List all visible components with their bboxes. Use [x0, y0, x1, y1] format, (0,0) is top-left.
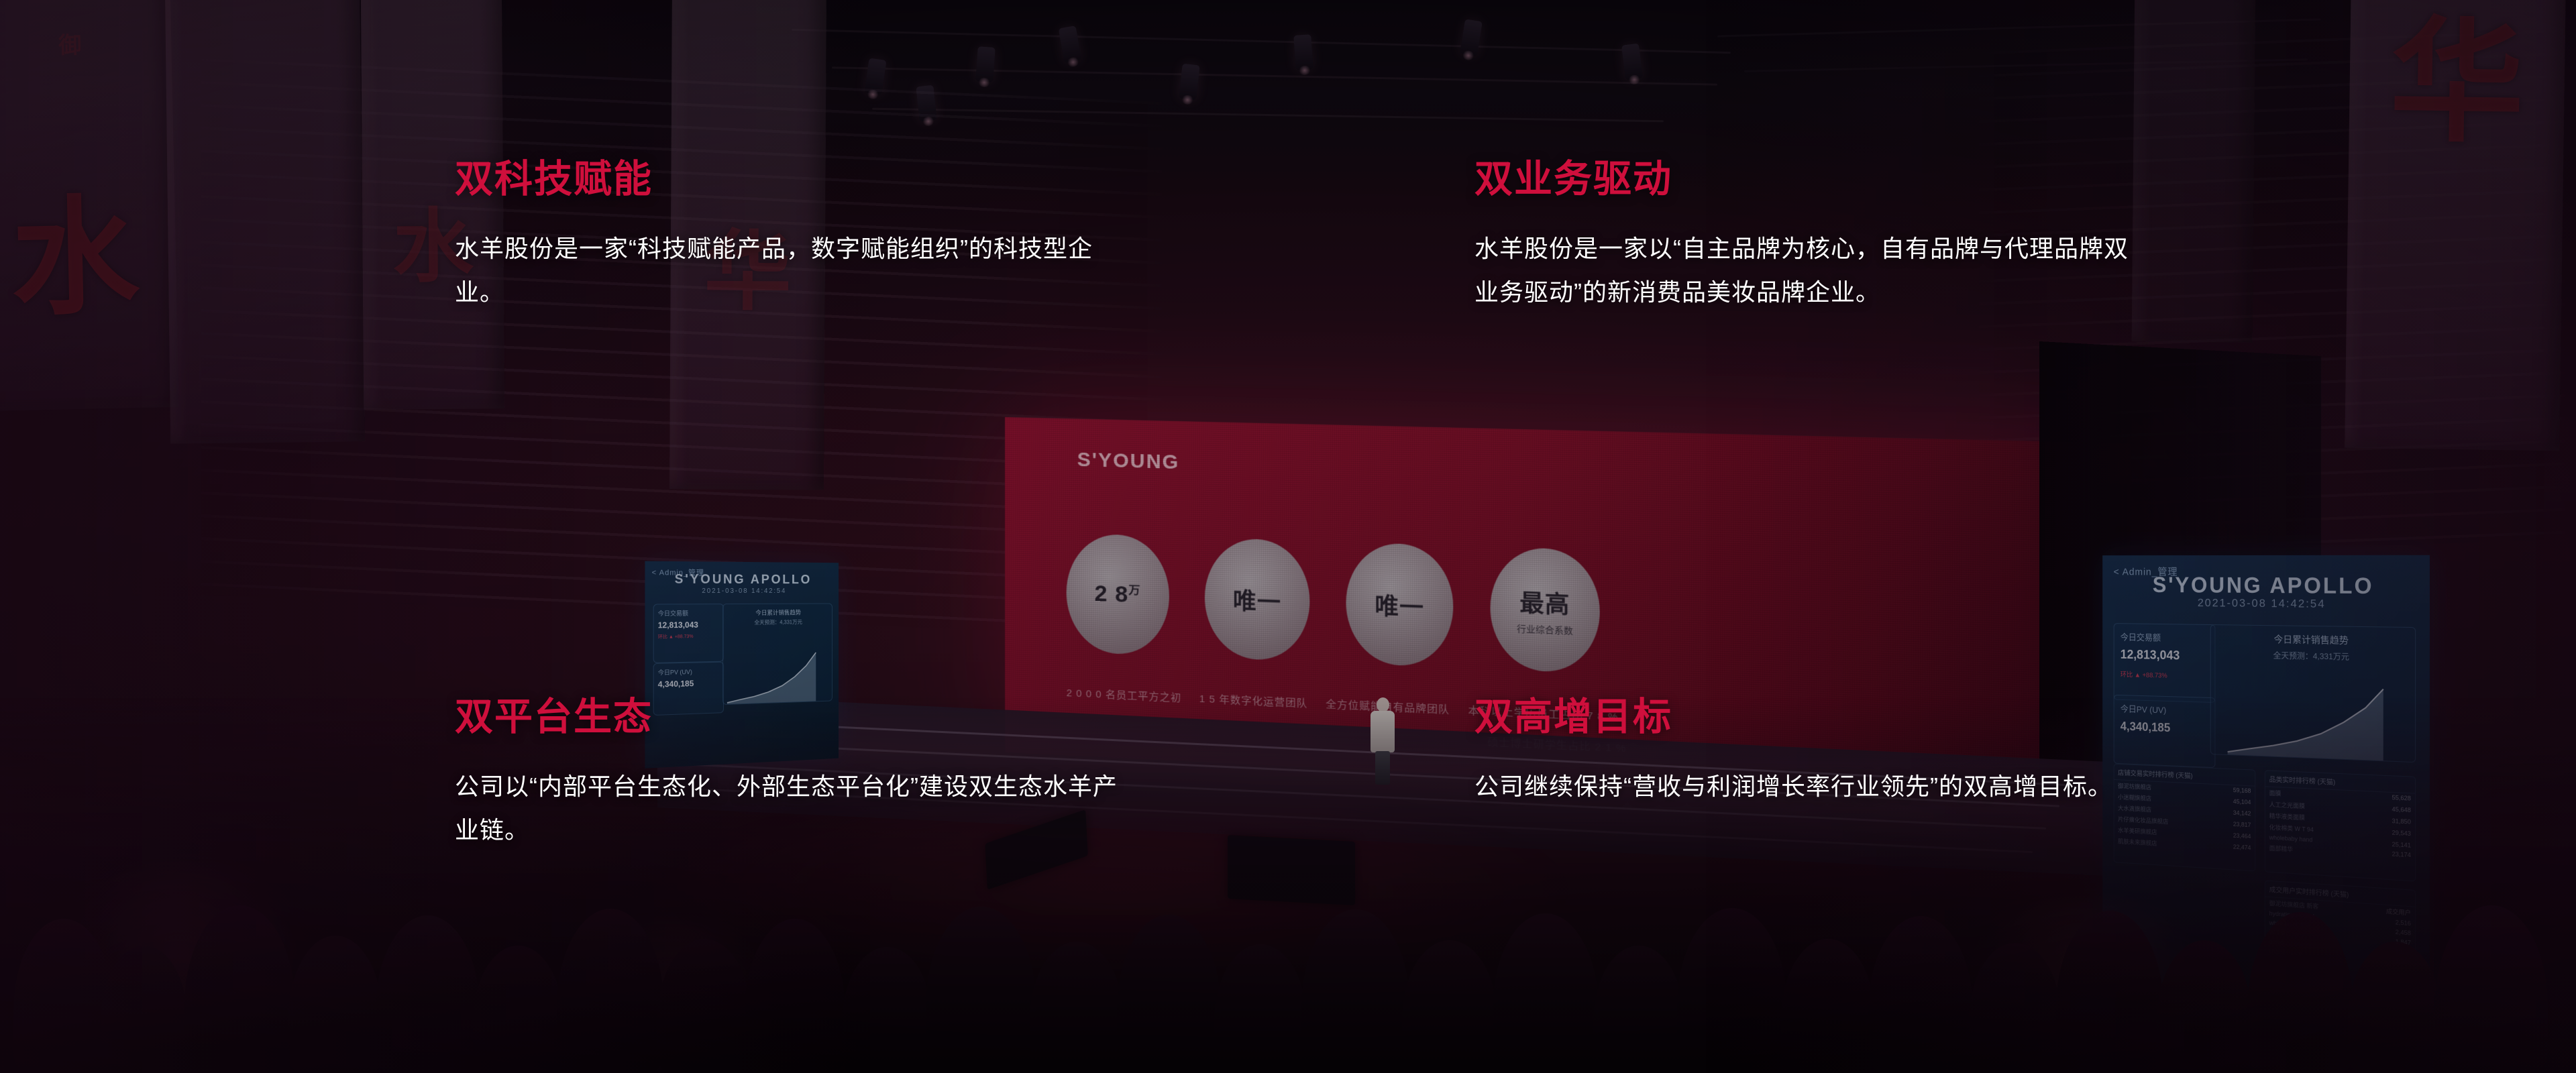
text-overlay: 双科技赋能 水羊股份是一家“科技赋能产品，数字赋能组织”的科技型企业。 双业务驱…: [0, 0, 2576, 1073]
overlay-heading: 双科技赋能: [455, 160, 1119, 200]
overlay-body: 公司以“内部平台生态化、外部生态平台化”建设双生态水羊产业链。: [455, 765, 1119, 852]
overlay-block-dual-business: 双业务驱动 水羊股份是一家以“自主品牌为核心，自有品牌与代理品牌双业务驱动”的新…: [1474, 160, 2139, 315]
overlay-block-tech-empowerment: 双科技赋能 水羊股份是一家“科技赋能产品，数字赋能组织”的科技型企业。: [455, 160, 1119, 315]
overlay-body: 水羊股份是一家以“自主品牌为核心，自有品牌与代理品牌双业务驱动”的新消费品美妆品…: [1474, 227, 2139, 315]
overlay-heading: 双业务驱动: [1474, 160, 2139, 200]
screenshot-canvas: 御 水 水 华 华 S'YOUNG 2 8万 唯一 唯一: [0, 0, 2576, 1073]
overlay-body: 公司继续保持“营收与利润增长率行业领先”的双高增目标。: [1474, 765, 2112, 809]
overlay-heading: 双平台生态: [455, 697, 1119, 738]
overlay-block-dual-platform: 双平台生态 公司以“内部平台生态化、外部生态平台化”建设双生态水羊产业链。: [455, 697, 1119, 852]
overlay-body: 水羊股份是一家“科技赋能产品，数字赋能组织”的科技型企业。: [455, 227, 1119, 315]
overlay-block-dual-growth: 双高增目标 公司继续保持“营收与利润增长率行业领先”的双高增目标。: [1474, 697, 2112, 808]
overlay-heading: 双高增目标: [1474, 697, 2112, 738]
